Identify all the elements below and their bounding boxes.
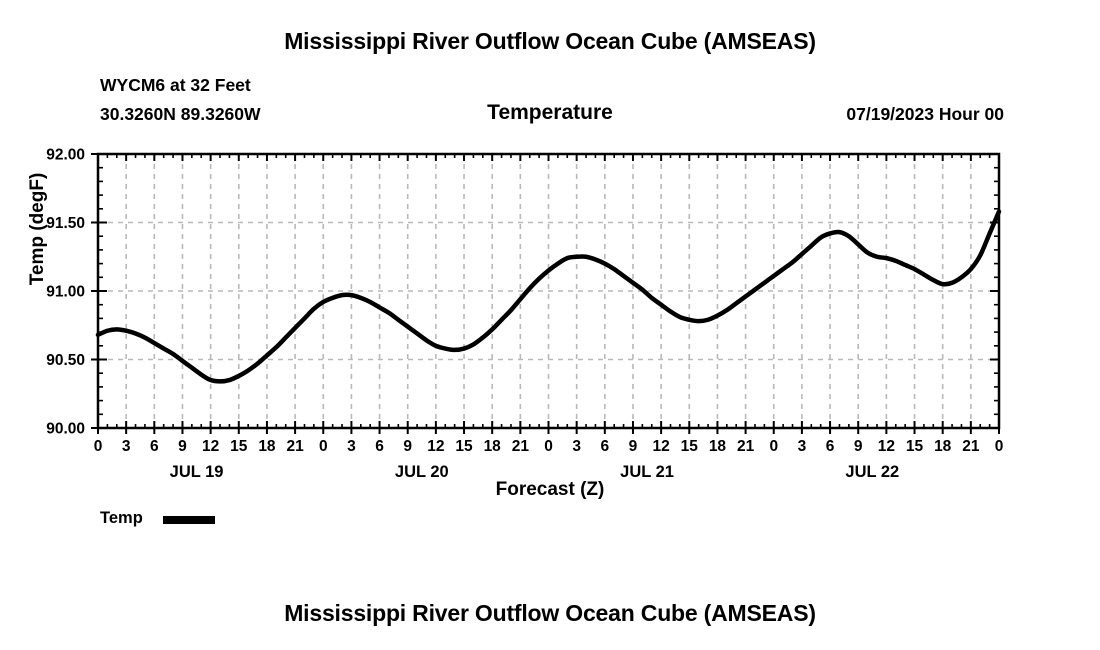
chart-page: Mississippi River Outflow Ocean Cube (AM… xyxy=(0,0,1100,650)
x-tick-label: 9 xyxy=(178,438,187,455)
day-label: JUL 21 xyxy=(620,463,674,481)
x-tick-label: 12 xyxy=(878,438,895,455)
x-tick-label: 9 xyxy=(403,438,412,455)
x-tick-label: 15 xyxy=(906,438,924,455)
y-tick-label: 90.00 xyxy=(46,421,85,438)
x-tick-label: 3 xyxy=(122,438,131,455)
x-tick-labels: 0369121518210369121518210369121518210369… xyxy=(94,438,1004,455)
legend-label: Temp xyxy=(100,509,143,528)
x-tick-label: 21 xyxy=(286,438,304,455)
x-tick-label: 6 xyxy=(826,438,835,455)
day-label: JUL 20 xyxy=(395,463,449,481)
x-tick-label: 18 xyxy=(484,438,502,455)
x-tick-label: 6 xyxy=(601,438,610,455)
x-tick-label: 3 xyxy=(798,438,807,455)
x-tick-label: 18 xyxy=(934,438,952,455)
y-tick-labels: 92.0091.5091.0090.5090.00 xyxy=(46,147,85,438)
y-tick-label: 91.00 xyxy=(46,284,85,301)
x-tick-label: 18 xyxy=(709,438,727,455)
x-tick-label: 3 xyxy=(347,438,356,455)
y-tick-label: 91.50 xyxy=(46,215,85,232)
x-tick-label: 15 xyxy=(455,438,473,455)
x-tick-label: 15 xyxy=(230,438,248,455)
x-tick-label: 21 xyxy=(512,438,530,455)
x-tick-label: 12 xyxy=(653,438,670,455)
x-tick-label: 15 xyxy=(681,438,699,455)
y-tick-label: 90.50 xyxy=(46,352,85,369)
temperature-line-chart: 92.0091.5091.0090.5090.00 03691215182103… xyxy=(0,0,1100,650)
legend-swatch-temp xyxy=(163,516,215,524)
x-tick-label: 0 xyxy=(769,438,778,455)
x-tick-label: 9 xyxy=(854,438,863,455)
ticks-layer xyxy=(91,154,999,434)
x-tick-label: 6 xyxy=(375,438,384,455)
x-tick-label: 0 xyxy=(544,438,553,455)
x-tick-label: 6 xyxy=(150,438,159,455)
x-tick-label: 0 xyxy=(319,438,328,455)
day-labels: JUL 19JUL 20JUL 21JUL 22 xyxy=(170,463,900,481)
x-tick-label: 0 xyxy=(94,438,103,455)
page-title-bottom: Mississippi River Outflow Ocean Cube (AM… xyxy=(0,600,1100,627)
grid-layer xyxy=(98,154,999,428)
y-tick-label: 92.00 xyxy=(46,147,85,164)
x-tick-label: 9 xyxy=(629,438,638,455)
day-label: JUL 19 xyxy=(170,463,224,481)
day-label: JUL 22 xyxy=(845,463,899,481)
x-tick-label: 3 xyxy=(572,438,581,455)
x-tick-label: 12 xyxy=(202,438,219,455)
x-tick-label: 12 xyxy=(427,438,444,455)
x-tick-label: 0 xyxy=(995,438,1004,455)
x-tick-label: 21 xyxy=(962,438,980,455)
x-tick-label: 21 xyxy=(737,438,755,455)
x-tick-label: 18 xyxy=(258,438,276,455)
